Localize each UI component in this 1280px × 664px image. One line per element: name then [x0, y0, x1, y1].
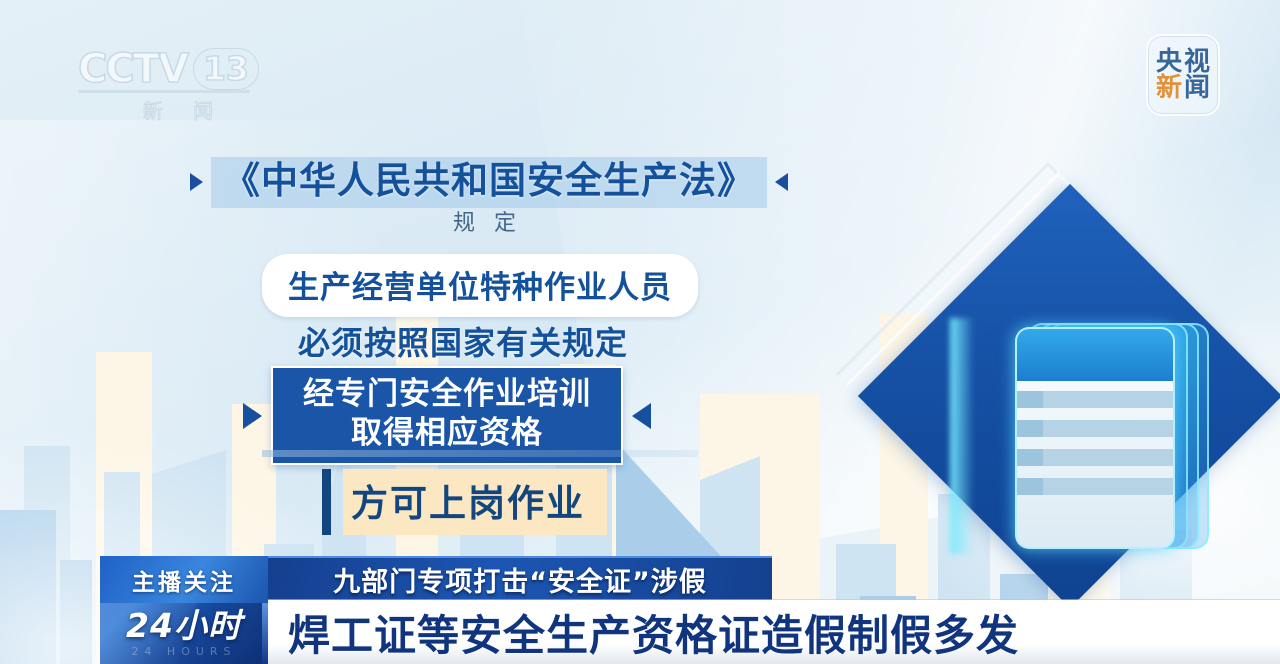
document-glow	[950, 318, 974, 554]
triangle-left-icon	[775, 173, 788, 191]
document-body	[1017, 381, 1173, 549]
program-label-row: 主播关注	[100, 556, 268, 603]
clause-1-pill: 生产经营单位特种作业人员	[262, 254, 698, 317]
document-stack	[1015, 323, 1210, 553]
clause-2-text: 必须按照国家有关规定	[298, 318, 628, 364]
program-badge: 主播关注 24小时 24 HOURS	[100, 556, 268, 664]
triangle-right-large-icon	[243, 403, 262, 429]
triangle-left-large-icon	[632, 403, 651, 429]
watermark-char-xin: 新	[1156, 75, 1182, 101]
law-title-row: 《中华人民共和国安全生产法》	[190, 157, 788, 208]
document-text-line	[1017, 478, 1173, 495]
document-text-line	[1017, 449, 1173, 466]
stipulates-label: 规 定	[453, 205, 522, 237]
watermark-char-yang: 央	[1156, 49, 1182, 75]
clause-3-box-shadow	[262, 450, 698, 457]
kicker-text: 九部门专项打击“安全证”涉假	[333, 560, 707, 599]
program-label: 主播关注	[132, 563, 236, 597]
law-title: 《中华人民共和国安全生产法》	[211, 157, 767, 208]
program-name: 24小时	[126, 609, 242, 642]
clause-4-text: 方可上岗作业	[351, 473, 585, 527]
program-name-english: 24 HOURS	[131, 645, 236, 658]
kicker-bar: 九部门专项打击“安全证”涉假	[268, 556, 772, 600]
watermark-char-wen: 闻	[1184, 75, 1210, 101]
cctv-logo-number: 13	[193, 48, 259, 90]
cctv13-logo: CCTV 13 新 闻	[78, 46, 278, 124]
program-name-row: 24小时 24 HOURS	[100, 603, 268, 664]
triangle-right-icon	[190, 173, 203, 191]
broadcast-screenshot: CCTV 13 新 闻 央 视 新 闻 《中华人民共和国安全生产法》 规 定 生…	[0, 0, 1280, 664]
document-text-line	[1017, 420, 1173, 437]
cctv-logo-subtitle: 新 闻	[78, 95, 278, 124]
document-header-bar	[1017, 329, 1173, 381]
clause-4-highlight: 方可上岗作业	[343, 469, 607, 535]
watermark-char-shi: 视	[1184, 49, 1210, 75]
clause-3-line-1: 经专门安全作业培训	[303, 375, 591, 414]
cctv-news-app-watermark: 央 视 新 闻	[1146, 34, 1220, 116]
accent-bar	[322, 469, 331, 535]
headline-text: 焊工证等安全生产资格证造假制假多发	[288, 602, 1019, 663]
clause-3-line-2: 取得相应资格	[303, 414, 591, 453]
certificate-document-icon	[1015, 327, 1175, 549]
document-text-line	[1017, 391, 1173, 408]
clause-4-row: 方可上岗作业	[322, 469, 607, 535]
headline-bar: 焊工证等安全生产资格证造假制假多发	[268, 600, 1280, 664]
cctv-logo-text: CCTV	[78, 46, 187, 92]
certificate-diamond-graphic	[800, 218, 1280, 618]
